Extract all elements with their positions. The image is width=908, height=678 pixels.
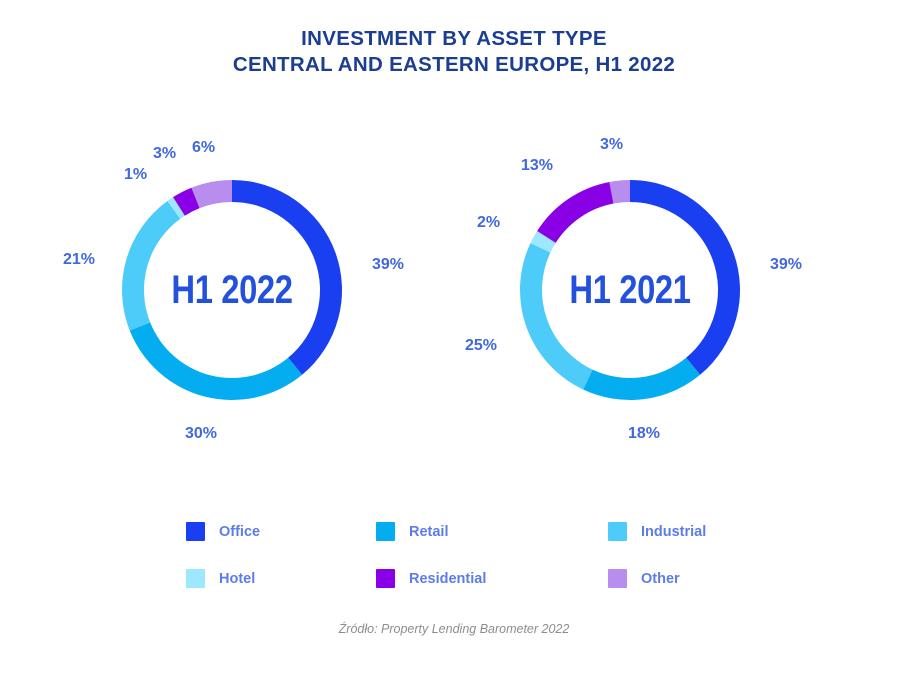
legend-item-other[interactable]: Other (608, 569, 726, 588)
chart-page: INVESTMENT BY ASSET TYPE CENTRAL AND EAS… (0, 0, 908, 678)
chart-legend: OfficeRetailIndustrialHotelResidentialOt… (186, 508, 726, 602)
legend-item-office[interactable]: Office (186, 522, 376, 541)
legend-label: Hotel (219, 571, 255, 587)
donut-ring (120, 178, 344, 402)
donut-chart-2: H1 2021 (518, 178, 742, 402)
pct-label-residential-1: 3% (153, 145, 176, 163)
legend-swatch-icon-residential (376, 569, 395, 588)
pct-label-retail-2: 18% (628, 425, 660, 443)
legend-swatch-icon-hotel (186, 569, 205, 588)
pct-label-retail-1: 30% (185, 425, 217, 443)
donut-segment-industrial[interactable] (520, 243, 593, 389)
legend-label: Industrial (641, 524, 706, 540)
page-title: INVESTMENT BY ASSET TYPE CENTRAL AND EAS… (0, 26, 908, 78)
title-line-1: INVESTMENT BY ASSET TYPE (0, 26, 908, 52)
source-note: Źródło: Property Lending Barometer 2022 (0, 622, 908, 636)
legend-item-industrial[interactable]: Industrial (608, 522, 726, 541)
legend-swatch-icon-office (186, 522, 205, 541)
pct-label-other-1: 6% (192, 139, 215, 157)
legend-swatch-icon-retail (376, 522, 395, 541)
donut-segment-office[interactable] (232, 180, 342, 375)
donut-ring (518, 178, 742, 402)
donut-chart-1: H1 2022 (120, 178, 344, 402)
pct-label-industrial-2: 25% (465, 337, 497, 355)
pct-label-office-2: 39% (770, 256, 802, 274)
legend-swatch-icon-other (608, 569, 627, 588)
legend-item-hotel[interactable]: Hotel (186, 569, 376, 588)
donut-segment-residential[interactable] (537, 182, 613, 243)
legend-item-residential[interactable]: Residential (376, 569, 608, 588)
pct-label-hotel-1: 1% (124, 166, 147, 184)
legend-item-retail[interactable]: Retail (376, 522, 608, 541)
donut-segment-office[interactable] (630, 180, 740, 375)
pct-label-office-1: 39% (372, 256, 404, 274)
pct-label-industrial-1: 21% (63, 251, 95, 269)
pct-label-hotel-2: 2% (477, 214, 500, 232)
legend-label: Office (219, 524, 260, 540)
legend-label: Retail (409, 524, 449, 540)
pct-label-residential-2: 13% (521, 157, 553, 175)
legend-swatch-icon-industrial (608, 522, 627, 541)
donut-segment-industrial[interactable] (122, 201, 180, 330)
legend-label: Residential (409, 571, 486, 587)
donut-segment-retail[interactable] (130, 322, 302, 400)
pct-label-other-2: 3% (600, 136, 623, 154)
title-line-2: CENTRAL AND EASTERN EUROPE, H1 2022 (0, 52, 908, 78)
legend-label: Other (641, 571, 680, 587)
donut-segment-retail[interactable] (583, 358, 700, 400)
